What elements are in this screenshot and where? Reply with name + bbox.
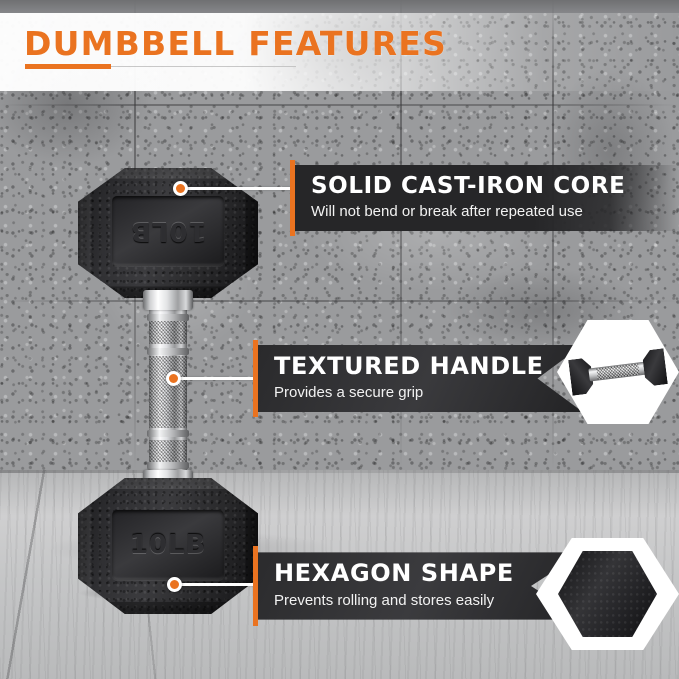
callout-dot-handle (166, 371, 181, 386)
handle-ring (147, 314, 189, 321)
feature-subtitle-hexagon: Prevents rolling and stores easily (274, 592, 569, 609)
feature-title-handle: TEXTURED HANDLE (274, 354, 569, 379)
title-underline-extension (111, 66, 296, 67)
hexagon-end-icon (558, 551, 657, 637)
feature-title-core: SOLID CAST-IRON CORE (311, 174, 665, 198)
connector-line-handle (178, 377, 255, 380)
callout-body: SOLID CAST-IRON CORE Will not bend or br… (295, 165, 679, 231)
weight-label-bottom: 10LB (130, 530, 207, 560)
callout-body: HEXAGON SHAPE Prevents rolling and store… (258, 552, 583, 619)
wall-top-strip (0, 0, 679, 13)
page-title: DUMBBELL FEATURES (24, 24, 447, 63)
handle-knurling (149, 440, 187, 464)
dumbbell-handle (141, 290, 195, 490)
callout-accent-bar (253, 546, 258, 626)
dumbbell-product-image: 10LB 10LB (78, 168, 258, 608)
feature-callout-hexagon: HEXAGON SHAPE Prevents rolling and store… (253, 546, 583, 626)
feature-title-hexagon: HEXAGON SHAPE (274, 561, 569, 586)
connector-line-hexagon (180, 583, 256, 586)
feature-callout-handle: TEXTURED HANDLE Provides a secure grip (253, 340, 583, 417)
weight-label-top: 10LB (130, 216, 207, 246)
dumbbell-head-bottom: 10LB (78, 478, 258, 614)
weight-plate-bottom: 10LB (112, 510, 224, 580)
callout-accent-bar (253, 340, 258, 417)
callout-body: TEXTURED HANDLE Provides a secure grip (258, 345, 583, 412)
handle-ring (147, 430, 189, 437)
wall-seam-horizontal (0, 104, 679, 106)
mini-head-right (642, 348, 668, 386)
title-underline-accent (25, 64, 111, 69)
dumbbell-side-view-icon (568, 346, 668, 397)
handle-knurling (149, 356, 187, 428)
feature-subtitle-handle: Provides a secure grip (274, 384, 569, 401)
callout-dot-core (173, 181, 188, 196)
feature-callout-core: SOLID CAST-IRON CORE Will not bend or br… (290, 160, 679, 236)
connector-line-core (186, 187, 292, 190)
handle-collar (143, 290, 193, 310)
callout-dot-hexagon (167, 577, 182, 592)
weight-plate-top: 10LB (112, 196, 224, 266)
infographic-canvas: DUMBBELL FEATURES 10LB 10LB (0, 0, 679, 679)
handle-ring (147, 348, 189, 355)
handle-ring (147, 462, 189, 469)
feature-subtitle-core: Will not bend or break after repeated us… (311, 203, 665, 220)
handle-knurling (149, 320, 187, 344)
